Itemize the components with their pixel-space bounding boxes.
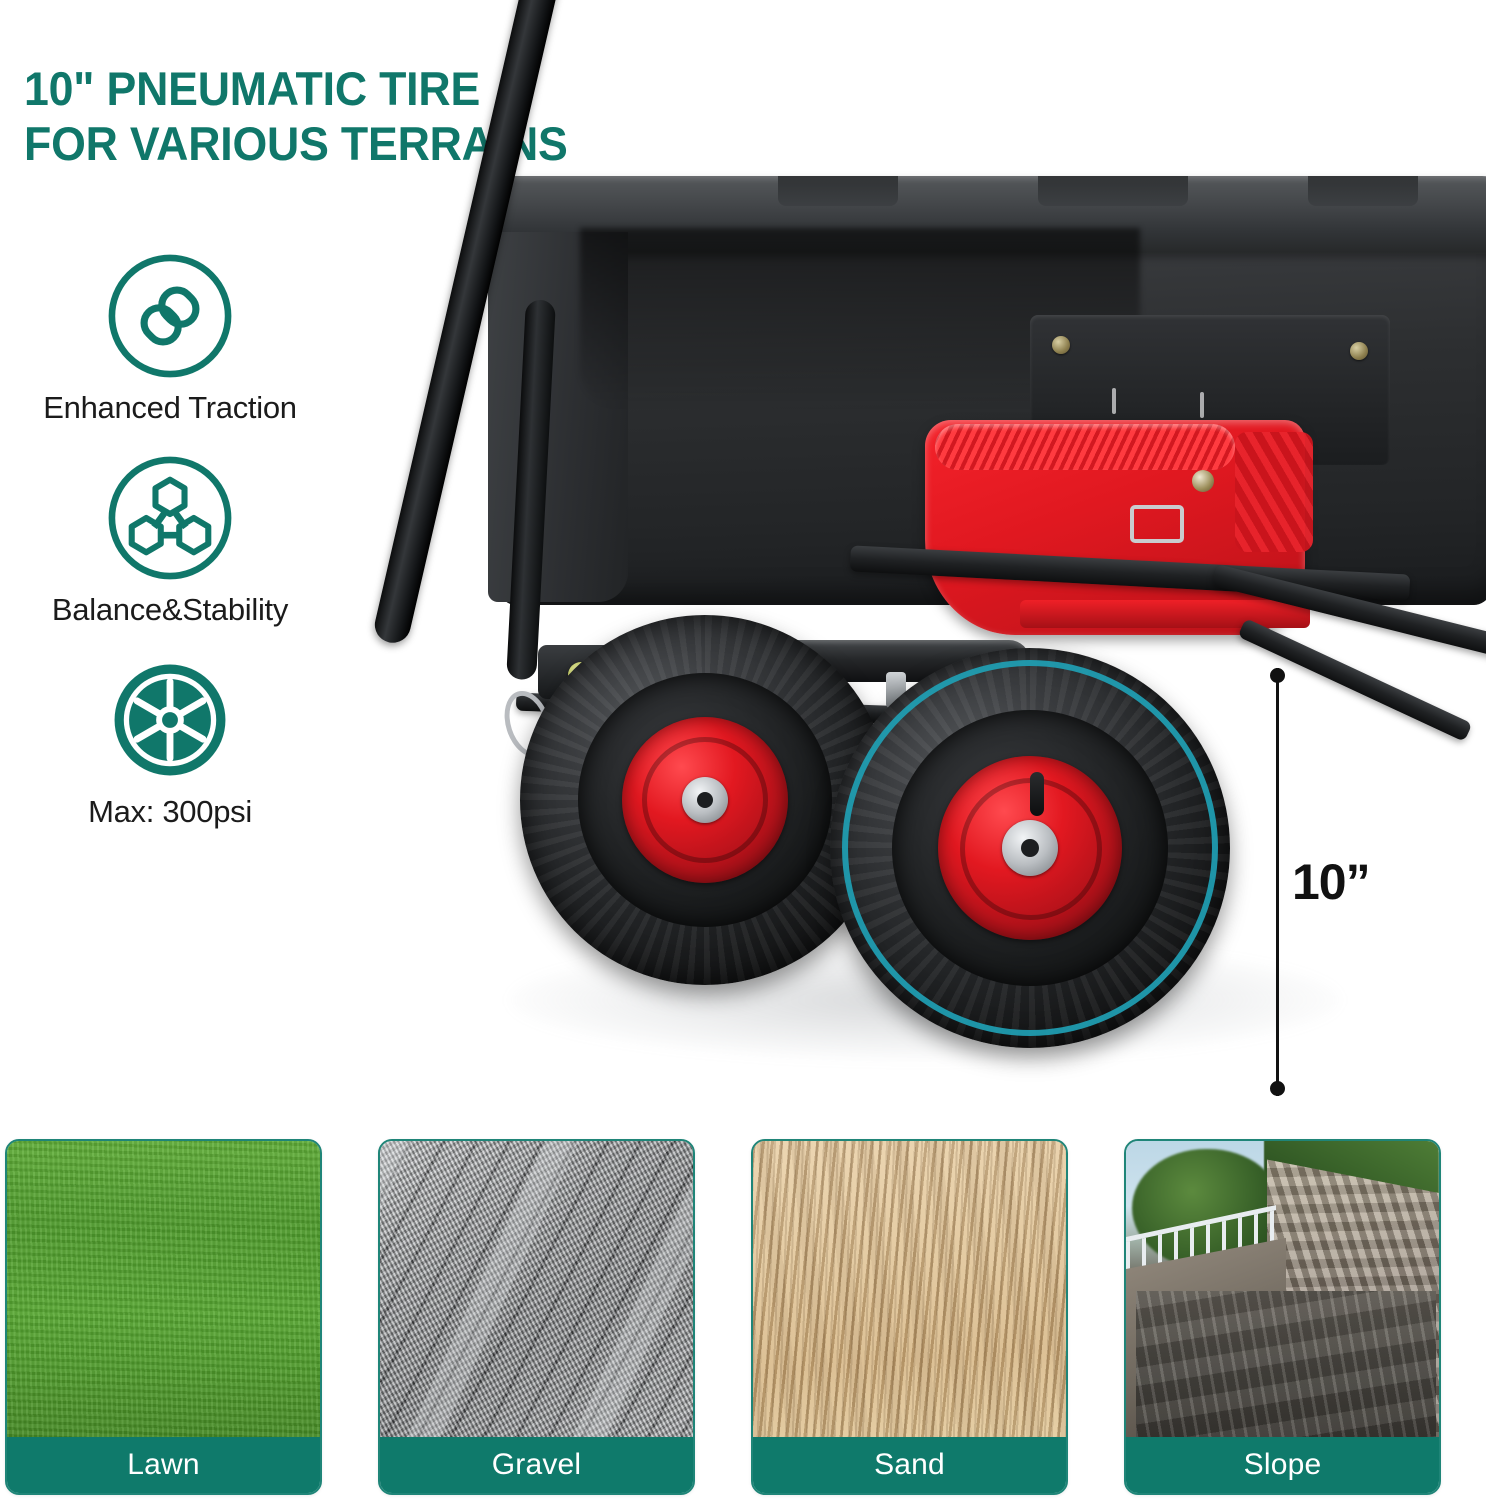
terrain-card-label: Sand xyxy=(753,1437,1066,1493)
lever-bolt xyxy=(1192,470,1214,492)
terrain-image-slope xyxy=(1126,1141,1439,1437)
tire-valve-stem xyxy=(1030,772,1044,816)
red-lever-tray xyxy=(1020,600,1310,628)
feature-label: Enhanced Traction xyxy=(0,391,340,425)
red-lever-grip[interactable] xyxy=(935,424,1235,470)
terrain-image-sand xyxy=(753,1141,1066,1437)
rim-notch xyxy=(778,176,898,206)
terrain-card-slope[interactable]: Slope xyxy=(1124,1139,1441,1495)
feature-item-max-psi: Max: 300psi xyxy=(0,654,340,829)
red-lever-hex-pattern xyxy=(1235,432,1313,552)
chain-link-icon xyxy=(104,250,236,382)
terrain-card-label: Slope xyxy=(1126,1437,1439,1493)
terrain-card-label: Gravel xyxy=(380,1437,693,1493)
terrain-card-lawn[interactable]: Lawn xyxy=(5,1139,322,1495)
screw-icon xyxy=(1052,336,1070,354)
terrain-card-gravel[interactable]: Gravel xyxy=(378,1139,695,1495)
plate-tab xyxy=(1112,388,1116,414)
dimension-dot-bottom xyxy=(1270,1081,1285,1096)
rim-notch xyxy=(1308,176,1418,206)
rear-wheel-hub-cap-core xyxy=(697,792,713,808)
feature-list: Enhanced Traction Balance&Stability xyxy=(0,250,340,856)
molecule-hexagon-icon xyxy=(104,452,236,584)
terrain-card-label: Lawn xyxy=(7,1437,320,1493)
product-photo-garden-cart xyxy=(330,0,1486,1120)
feature-label: Max: 300psi xyxy=(0,795,340,829)
slope-paved-ramp xyxy=(1136,1291,1436,1441)
front-wheel-hub-cap-core xyxy=(1021,839,1039,857)
screw-icon xyxy=(1350,342,1368,360)
terrain-image-lawn xyxy=(7,1141,320,1437)
terrain-card-sand[interactable]: Sand xyxy=(751,1139,1068,1495)
feature-label: Balance&Stability xyxy=(0,593,340,627)
feature-item-enhanced-traction: Enhanced Traction xyxy=(0,250,340,425)
latch-icon xyxy=(1130,505,1184,543)
rim-notch xyxy=(1038,176,1188,206)
dimension-line xyxy=(1276,668,1279,1096)
terrain-card-list: Lawn Gravel Sand Slope xyxy=(0,1139,1486,1500)
terrain-image-gravel xyxy=(380,1141,693,1437)
wheel-icon xyxy=(104,654,236,786)
dimension-label: 10” xyxy=(1292,853,1370,911)
infographic-page: 10" PNEUMATIC TIRE FOR VARIOUS TERRAINS … xyxy=(0,0,1486,1500)
feature-item-balance-stability: Balance&Stability xyxy=(0,452,340,627)
plate-tab xyxy=(1200,392,1204,418)
